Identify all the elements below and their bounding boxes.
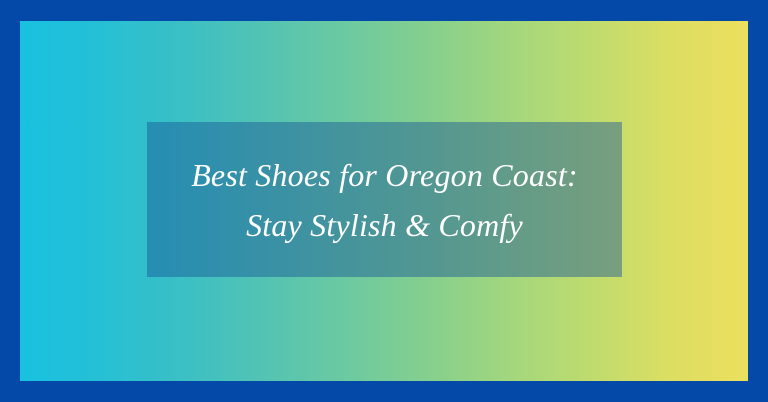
banner-title-line-1: Best Shoes for Oregon Coast: — [191, 150, 578, 200]
banner-title-line-2: Stay Stylish & Comfy — [246, 200, 523, 250]
featured-image-banner: Best Shoes for Oregon Coast: Stay Stylis… — [0, 0, 768, 402]
caption-overlay-plate: Best Shoes for Oregon Coast: Stay Stylis… — [147, 122, 622, 277]
